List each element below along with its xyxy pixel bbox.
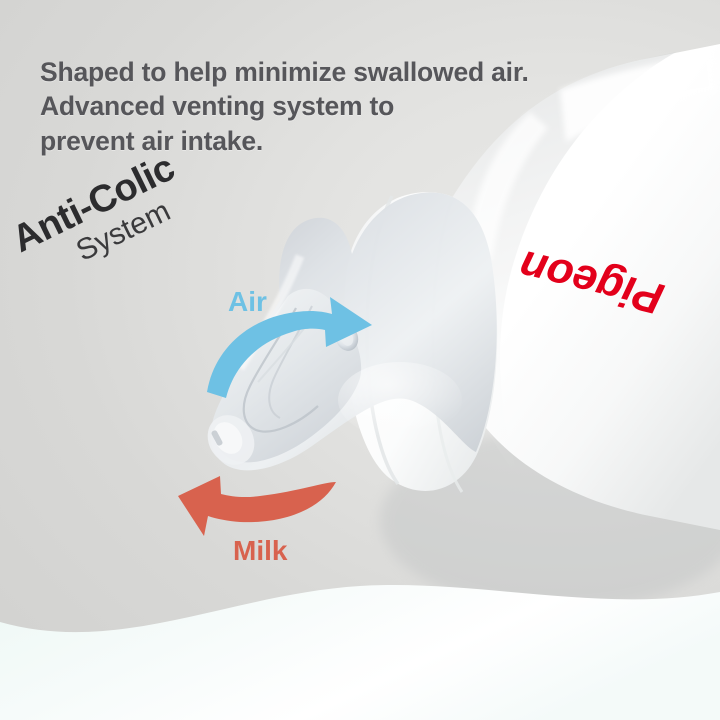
milk-label: Milk: [233, 535, 287, 567]
air-label: Air: [228, 286, 267, 318]
product-marketing-image: Pigeon Shaped to help minim: [0, 0, 720, 720]
headline: Shaped to help minimize swallowed air. A…: [40, 55, 529, 158]
milk-arrow: [178, 476, 336, 536]
